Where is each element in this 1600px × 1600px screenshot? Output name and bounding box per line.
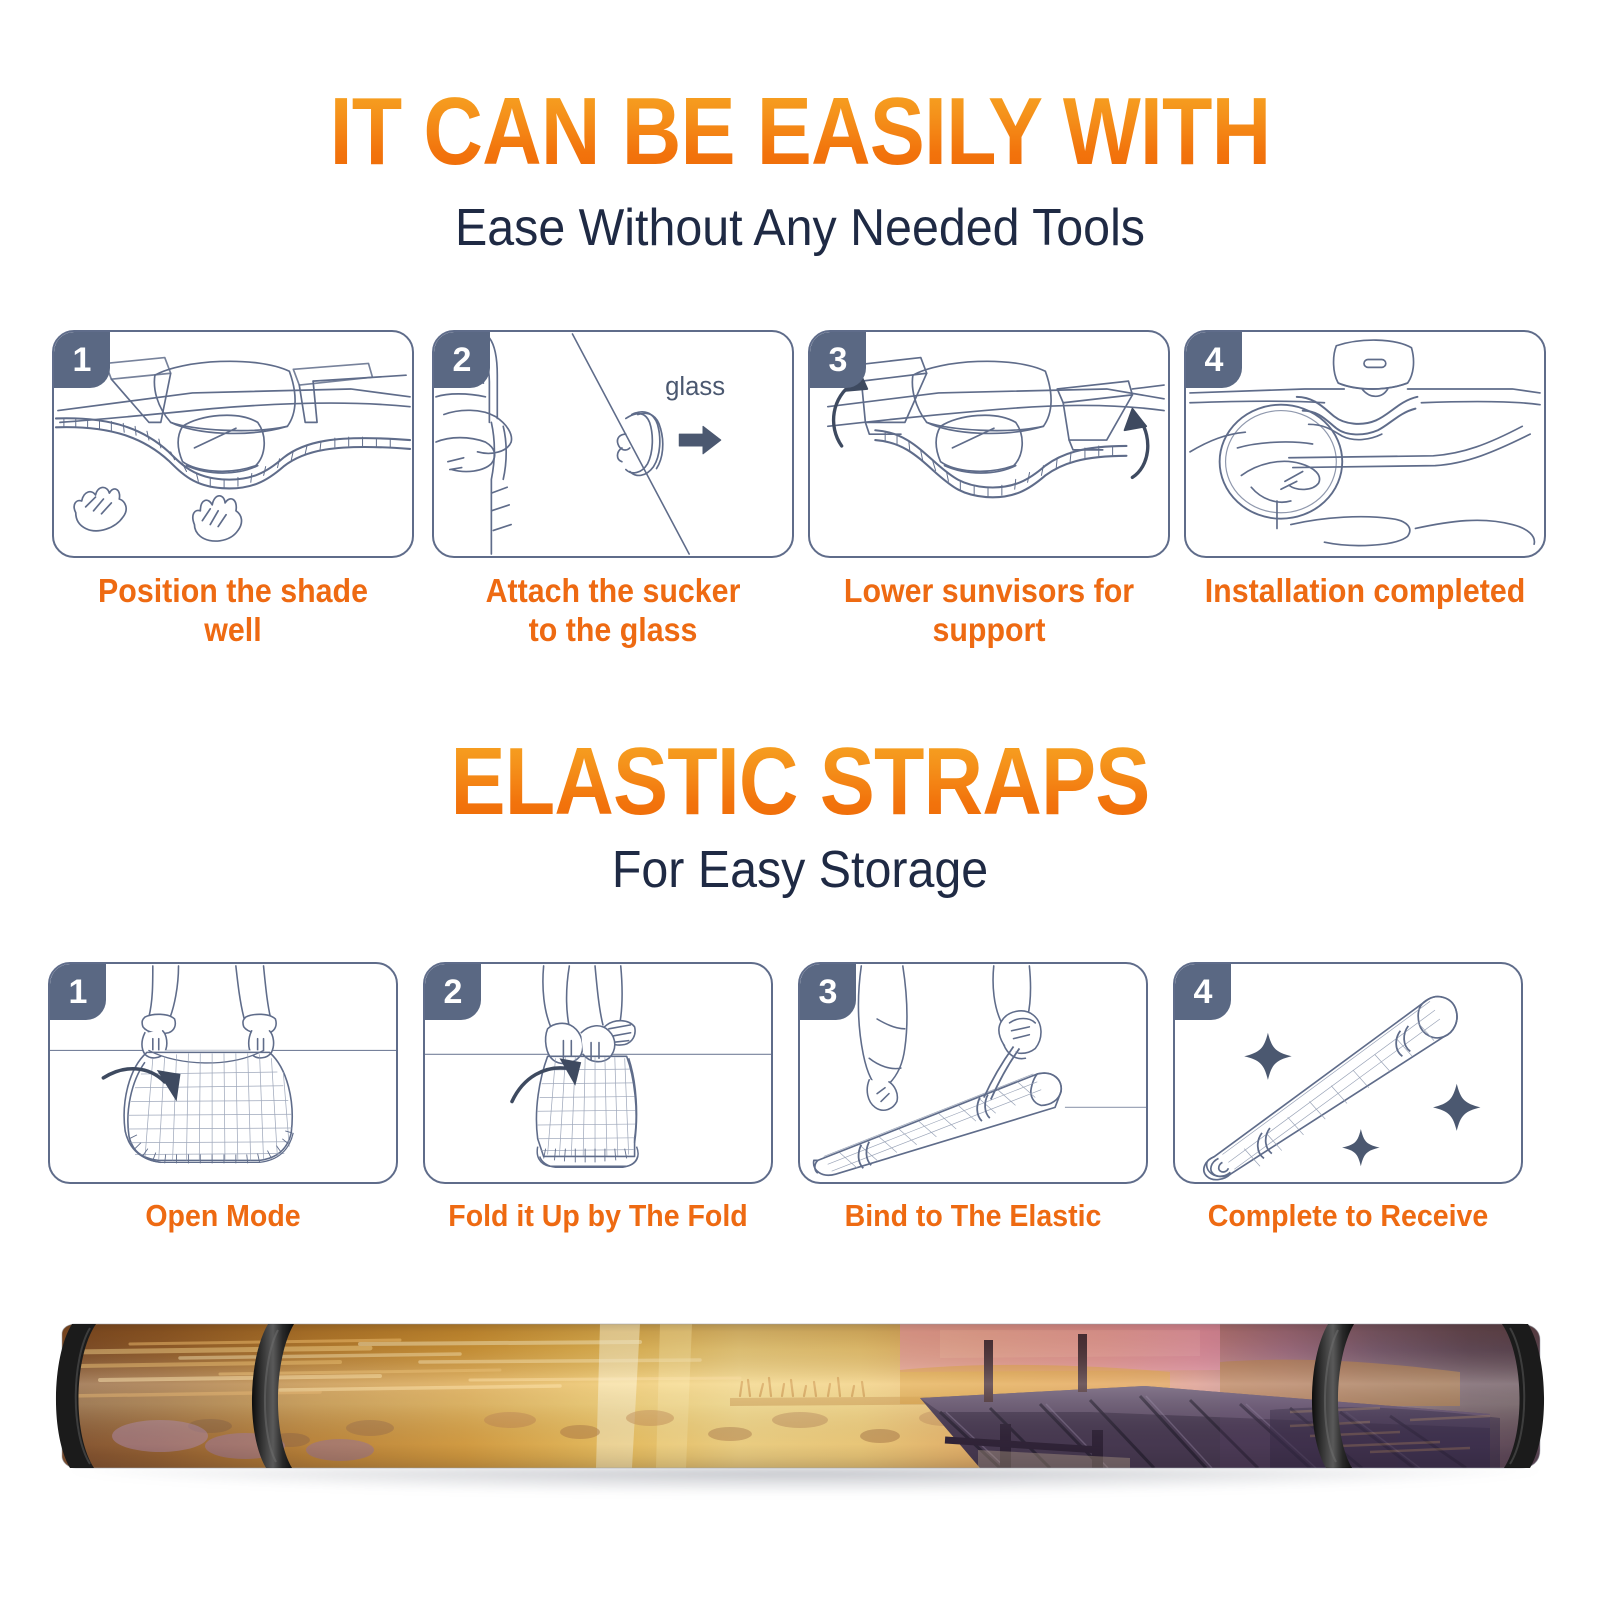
section-install-subheading: Ease Without Any Needed Tools (0, 198, 1600, 258)
storage-step-4: 4 (1173, 962, 1523, 1184)
storage-step-2: 2 (423, 962, 773, 1184)
glass-label: glass (665, 373, 725, 401)
install-step-4: 4 (1184, 330, 1546, 558)
step-number-badge: 3 (800, 964, 856, 1020)
step-number-badge: 2 (434, 332, 490, 388)
section-storage-heading: ELASTIC STRAPS (0, 734, 1600, 830)
section-storage-subheading: For Easy Storage (0, 840, 1600, 900)
storage-step-3-illustration: 3 (798, 962, 1148, 1184)
step-number-badge: 3 (810, 332, 866, 388)
install-title: IT CAN BE EASILY WITH (112, 84, 1488, 180)
install-step-2-illustration: 2 (432, 330, 794, 558)
install-step-1-caption: Position the shade well (66, 572, 399, 650)
rolled-sunshade-product-photo (40, 1300, 1560, 1500)
step-number-badge: 1 (54, 332, 110, 388)
step-number-badge: 2 (425, 964, 481, 1020)
sparkle (1244, 1033, 1480, 1167)
storage-step-4-illustration: 4 (1173, 962, 1523, 1184)
step-number-badge: 4 (1175, 964, 1231, 1020)
install-step-2: 2 (432, 330, 794, 558)
storage-step-2-illustration: 2 (423, 962, 773, 1184)
install-step-3-illustration: 3 (808, 330, 1170, 558)
install-step-1: 1 (52, 330, 414, 558)
storage-step-2-caption: Fold it Up by The Fold (437, 1198, 759, 1235)
install-step-4-illustration: 4 (1184, 330, 1546, 558)
install-step-1-illustration: 1 (52, 330, 414, 558)
storage-step-4-caption: Complete to Receive (1187, 1198, 1509, 1235)
storage-step-1-caption: Open Mode (62, 1198, 384, 1235)
storage-step-3-caption: Bind to The Elastic (812, 1198, 1134, 1235)
section-install-heading: IT CAN BE EASILY WITH (0, 84, 1600, 180)
storage-subtitle: For Easy Storage (56, 840, 1544, 900)
install-step-2-caption: Attach the sucker to the glass (446, 572, 779, 650)
storage-step-3: 3 (798, 962, 1148, 1184)
storage-title: ELASTIC STRAPS (112, 734, 1488, 830)
step-number-badge: 4 (1186, 332, 1242, 388)
install-step-3-caption: Lower sunvisors for support (822, 572, 1155, 650)
step-number-badge: 1 (50, 964, 106, 1020)
storage-step-1: 1 (48, 962, 398, 1184)
storage-step-1-illustration: 1 (48, 962, 398, 1184)
install-step-4-caption: Installation completed (1198, 572, 1531, 611)
install-subtitle: Ease Without Any Needed Tools (56, 198, 1544, 258)
install-step-3: 3 (808, 330, 1170, 558)
